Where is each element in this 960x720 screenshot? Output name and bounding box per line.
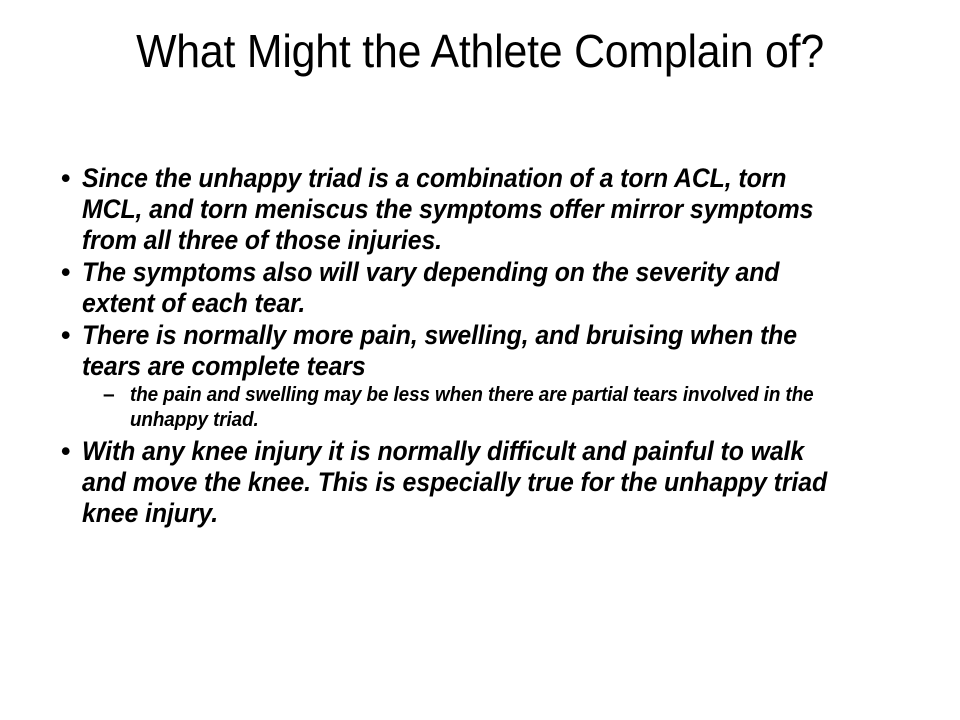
bullet-item: • The symptoms also will vary depending … [56, 257, 912, 319]
bullet-text: With any knee injury it is normally diff… [82, 436, 846, 529]
bullet-text: There is normally more pain, swelling, a… [82, 320, 846, 382]
bullet-text: Since the unhappy triad is a combination… [82, 163, 846, 256]
bullet-marker-icon: • [56, 257, 82, 288]
bullet-marker-icon: • [56, 436, 82, 467]
bullet-marker-icon: • [56, 320, 82, 351]
sub-bullet-text: the pain and swelling may be less when t… [130, 383, 849, 432]
bullet-item: • With any knee injury it is normally di… [56, 436, 912, 529]
sub-bullet-item: – the pain and swelling may be less when… [56, 383, 912, 432]
bullet-item: • There is normally more pain, swelling,… [56, 320, 912, 382]
bullet-item: • Since the unhappy triad is a combinati… [56, 163, 912, 256]
slide-title: What Might the Athlete Complain of? [89, 26, 870, 78]
bullet-marker-icon: • [56, 163, 82, 194]
dash-marker-icon: – [98, 383, 130, 408]
slide-canvas: What Might the Athlete Complain of? • Si… [0, 0, 960, 720]
slide-body: • Since the unhappy triad is a combinati… [56, 163, 912, 530]
bullet-text: The symptoms also will vary depending on… [82, 257, 846, 319]
